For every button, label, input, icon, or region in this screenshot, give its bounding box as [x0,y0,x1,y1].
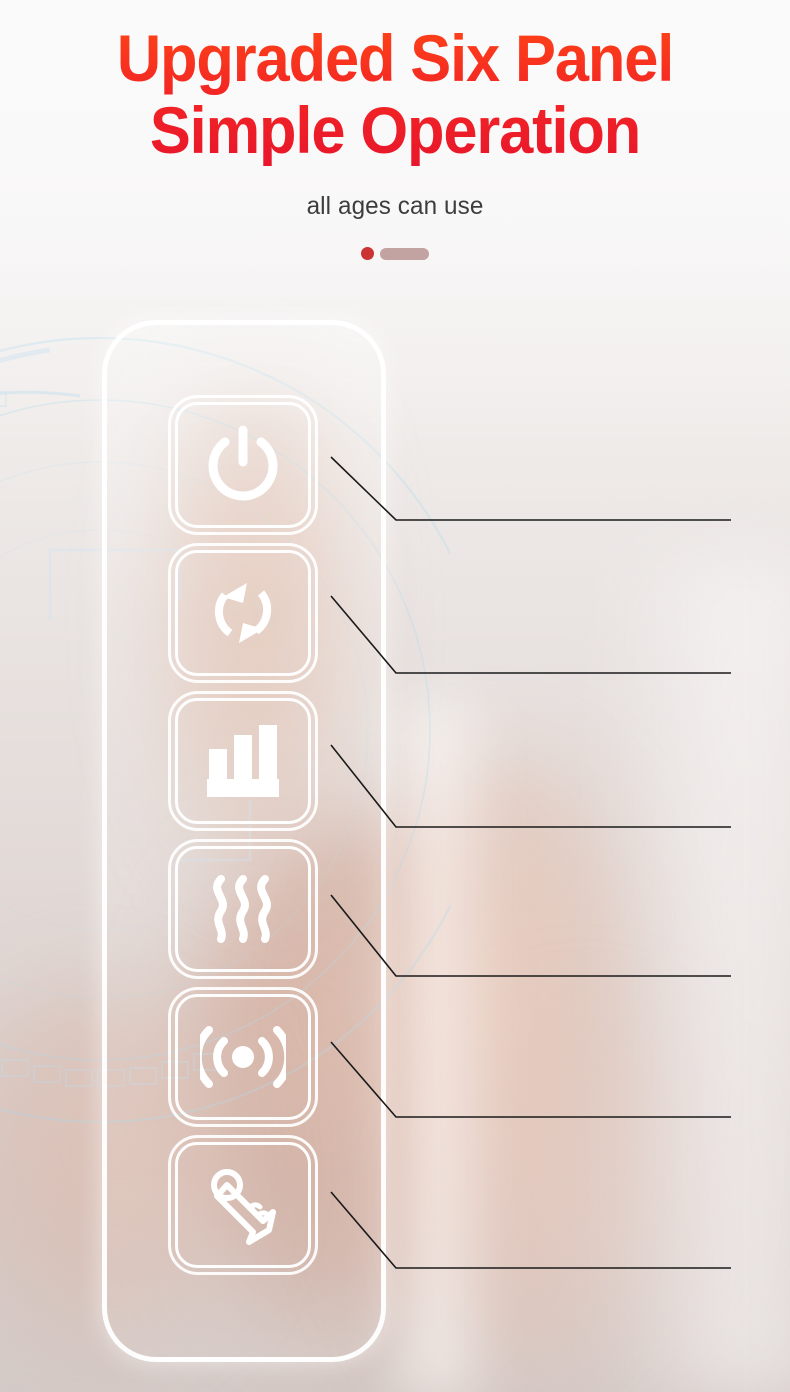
icon-button-column [175,402,311,1290]
header-divider [0,247,790,260]
title-line-1: Upgraded Six Panel [117,21,673,95]
bar-levels-icon[interactable] [175,698,311,824]
divider-dot [361,247,374,260]
touch-hand-icon[interactable] [175,1142,311,1268]
heat-waves-icon[interactable] [175,846,311,972]
header: Upgraded Six Panel Simple Operation all … [0,0,790,260]
background-light-streak [600,560,790,1392]
title-line-2: Simple Operation [28,94,763,166]
divider-bar [380,248,429,260]
page-subtitle: all ages can use [12,192,778,221]
power-button-icon[interactable] [175,402,311,528]
page-title: Upgraded Six Panel Simple Operation [28,0,763,166]
rotation-arrows-icon[interactable] [175,550,311,676]
infographic-stage: Upgraded Six Panel Simple Operation all … [0,0,790,1392]
vibration-waves-icon[interactable] [175,994,311,1120]
